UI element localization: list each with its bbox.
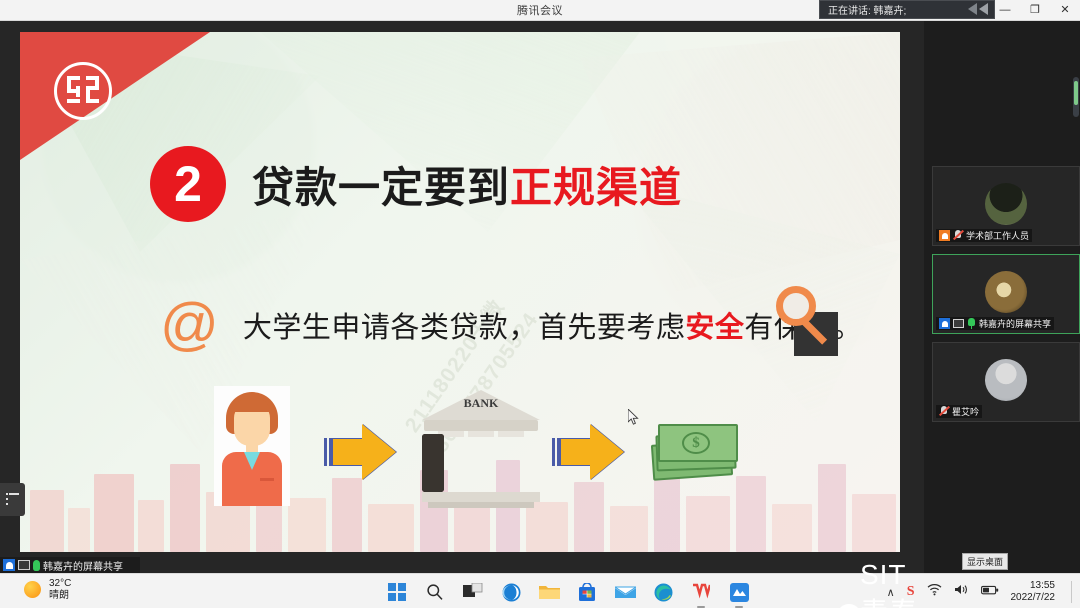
maximize-button[interactable]: ❐ [1020,0,1050,21]
slide-corner-decoration [20,32,210,160]
at-symbol-icon: @ [160,296,219,354]
microsoft-store-icon[interactable] [576,581,598,603]
slide-title-black: 贷款一定要到 [252,164,510,211]
participant-name-bar: 瞿艾吟 [936,405,982,418]
speaking-indicator: 正在讲话: 韩嘉卉; [819,0,995,19]
avatar [985,183,1027,225]
dollar-sign: $ [682,432,710,454]
bank-label: BANK [422,396,540,411]
task-view-icon[interactable] [462,581,484,603]
slide-title: 贷款一定要到正规渠道 [252,154,682,215]
participant-rail: 学术部工作人员 韩嘉卉的屏幕共享 瞿艾吟 [924,21,1080,573]
volume-icon[interactable] [954,583,969,601]
participant-name: 学术部工作人员 [966,229,1029,242]
bank-building-icon: BANK [422,390,540,508]
slide-title-red: 正规渠道 [510,164,682,211]
office-icon[interactable] [500,581,522,603]
money-icon: $ [652,422,738,482]
person-icon [3,559,15,571]
screen-share-icon [953,319,964,328]
show-desktop-button[interactable] [1071,581,1072,603]
bank-logo-icon [54,62,112,120]
body-highlight: 安全 [685,312,744,344]
battery-icon[interactable] [981,583,999,601]
microphone-on-icon [967,318,976,329]
app-body: 211180220千微 8618778705524 2 贷款一定要到正规渠道 @ [0,21,1080,573]
body-prefix: 大学生申请各类贷款，首先要考虑 [243,312,686,344]
microphone-muted-icon [953,230,963,241]
share-owner-strip: 韩嘉卉的屏幕共享 [0,557,140,573]
wifi-icon[interactable] [927,583,942,601]
wechat-icon [838,602,852,608]
sun-icon [24,581,41,598]
mail-icon[interactable] [614,581,636,603]
weather-condition: 晴朗 [49,590,71,602]
participants-panel-toggle[interactable] [0,483,25,516]
slide-number: 2 [174,159,202,209]
microphone-on-icon [33,560,40,571]
arrow-right-icon-2 [550,424,628,480]
magnifier-icon [772,284,838,356]
mouse-cursor [628,409,639,425]
clock[interactable]: 13:55 2022/7/22 [1011,580,1056,604]
participant-tile-3[interactable]: 瞿艾吟 [932,342,1080,422]
avatar [985,271,1027,313]
person-icon [939,318,950,329]
screen: 腾讯会议 — ❐ ✕ 正在讲话: 韩嘉卉; [0,0,1080,608]
edge-icon[interactable] [652,581,674,603]
weather-temperature: 32°C [49,578,71,590]
participant-name-bar: 韩嘉卉的屏幕共享 [936,317,1054,330]
loan-flow-illustration: BANK $ [200,384,740,514]
window-controls: — ❐ ✕ [990,0,1080,21]
shared-screen-stage: 211180220千微 8618778705524 2 贷款一定要到正规渠道 @ [0,21,924,573]
presentation-slide: 211180220千微 8618778705524 2 贷款一定要到正规渠道 @ [20,32,900,552]
meeting-icon[interactable] [728,581,750,603]
speaking-label: 正在讲话: 韩嘉卉; [828,2,906,17]
show-desktop-tooltip: 显示桌面 [962,553,1008,570]
participant-name-bar: 学术部工作人员 [936,229,1032,242]
rail-scrollbar[interactable] [1073,77,1079,117]
start-button[interactable] [386,581,408,603]
participant-name: 瞿艾吟 [952,405,979,418]
slide-body-row: @ 大学生申请各类贷款，首先要考虑安全有保障。 [160,290,860,360]
participant-tile-1[interactable]: 学术部工作人员 [932,166,1080,246]
brand-watermark-label: SIT青春经管 [860,559,927,608]
arrow-right-icon-1 [322,424,400,480]
speaking-arrows-icon [968,3,988,15]
share-owner-label: 韩嘉卉的屏幕共享 [43,558,123,573]
student-icon [214,386,290,506]
participant-name: 韩嘉卉的屏幕共享 [979,317,1051,330]
taskbar-icons [386,578,750,606]
avatar [985,359,1027,401]
screen-share-icon [18,560,30,570]
file-explorer-icon[interactable] [538,581,560,603]
microphone-muted-icon [939,406,949,417]
brand-watermark: SIT青春经管 [838,559,927,608]
clock-time: 13:55 [1030,580,1055,592]
app-title: 腾讯会议 [517,2,563,18]
wps-icon[interactable] [690,581,712,603]
search-icon[interactable] [424,581,446,603]
clock-date: 2022/7/22 [1011,592,1056,604]
host-icon [939,230,950,241]
slide-number-badge: 2 [150,146,226,222]
close-button[interactable]: ✕ [1050,0,1080,21]
slide-title-row: 2 贷款一定要到正规渠道 [150,142,850,226]
participant-tile-2[interactable]: 韩嘉卉的屏幕共享 [932,254,1080,334]
slide-body-text: 大学生申请各类贷款，首先要考虑安全有保障。 [243,304,863,346]
weather-widget[interactable]: 32°C 晴朗 [24,578,71,602]
